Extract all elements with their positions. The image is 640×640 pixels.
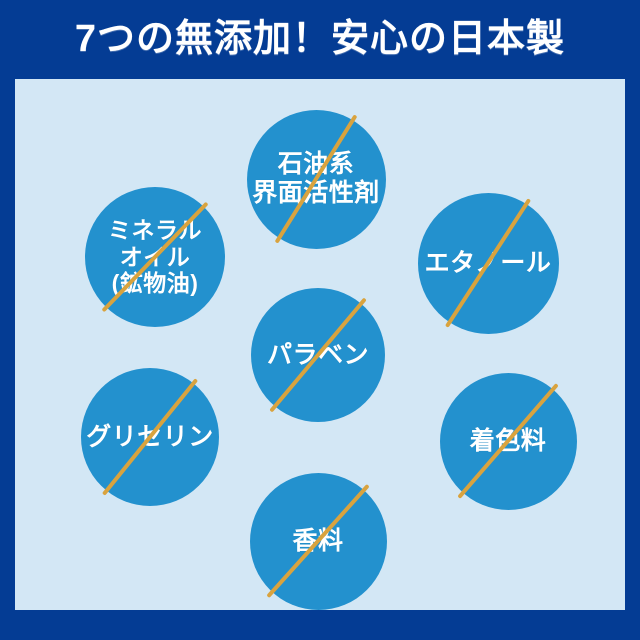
content-panel: ミネラル オイル (鉱物油)石油系 界面活性剤エタノールパラベングリセリン着色料… [15, 79, 625, 610]
bubble-label-ethanol: エタノール [421, 249, 556, 278]
bubble-label-fragrance: 香料 [288, 527, 347, 556]
bubble-label-glycerin: グリセリン [82, 423, 218, 452]
free-from-bubble-colorant: 着色料 [440, 373, 577, 510]
free-from-bubble-petroleum-surfactant: 石油系 界面活性剤 [247, 110, 386, 249]
page-title: 7つの無添加！安心の日本製 [75, 20, 565, 58]
bubble-label-petroleum-surfactant: 石油系 界面活性剤 [248, 150, 384, 208]
infographic-canvas: 7つの無添加！安心の日本製 ミネラル オイル (鉱物油)石油系 界面活性剤エタノ… [0, 0, 640, 640]
free-from-bubble-mineral-oil: ミネラル オイル (鉱物油) [85, 187, 225, 327]
free-from-bubble-paraben: パラベン [251, 288, 385, 422]
free-from-bubble-fragrance: 香料 [250, 473, 387, 610]
bubble-label-mineral-oil: ミネラル オイル (鉱物油) [104, 217, 206, 297]
header-band: 7つの無添加！安心の日本製 [0, 0, 640, 79]
free-from-bubble-ethanol: エタノール [418, 193, 559, 334]
bubble-label-colorant: 着色料 [466, 427, 551, 456]
bubble-label-paraben: パラベン [263, 341, 373, 370]
free-from-bubble-glycerin: グリセリン [81, 368, 219, 506]
